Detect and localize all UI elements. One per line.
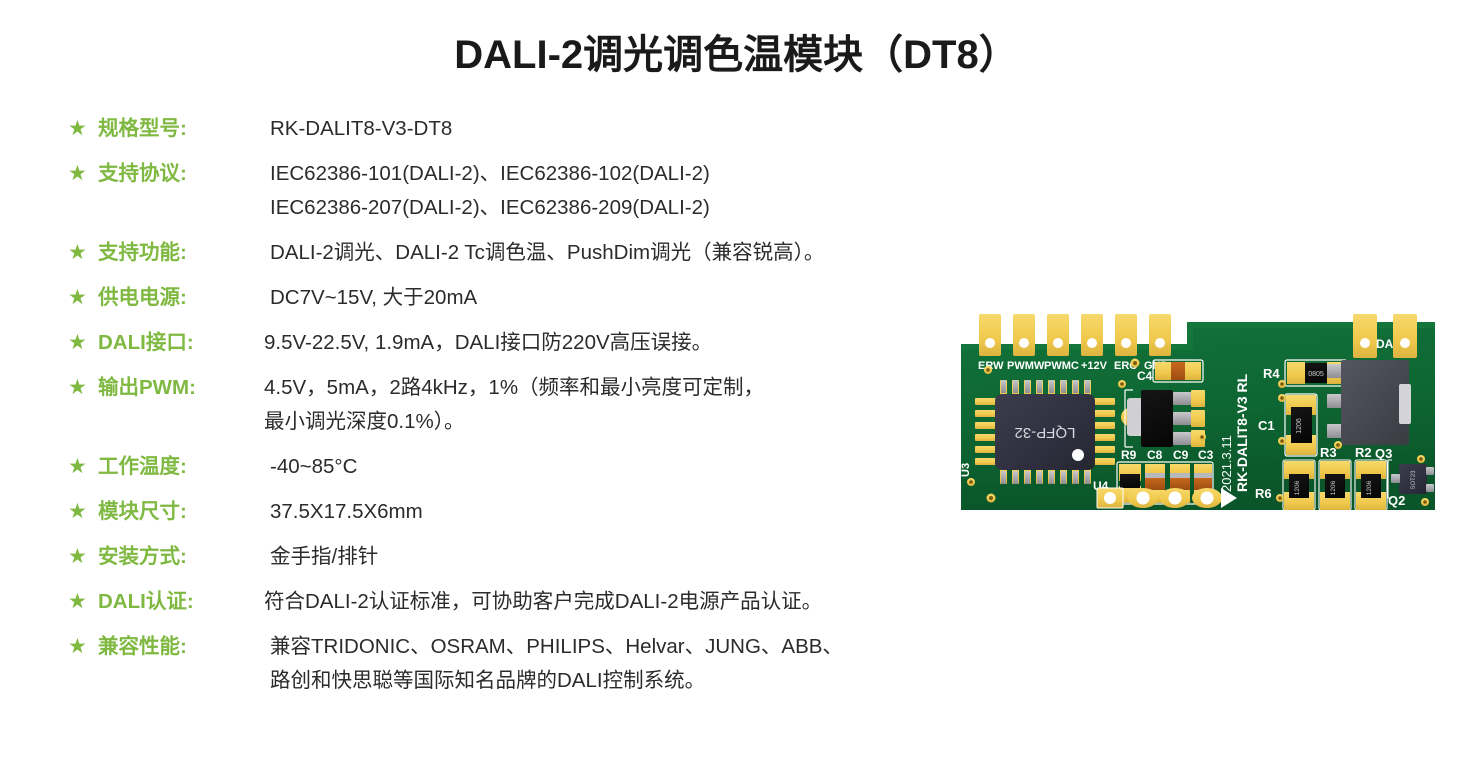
designator-c8: C8 (1147, 448, 1163, 462)
spec-label: DALI认证: (98, 585, 264, 619)
spec-label: 规格型号: (98, 112, 270, 146)
star-icon: ★ (68, 112, 98, 146)
part-code: 1206 (1366, 480, 1373, 495)
designator-q3: Q3 (1375, 446, 1392, 461)
spec-row: ★ 支持功能: DALI-2调光、DALI-2 Tc调色温、PushDim调光（… (68, 236, 968, 270)
part-code: 0805 (1308, 371, 1324, 378)
part-code: 1206 (1294, 480, 1301, 495)
spec-value: IEC62386-101(DALI-2)、IEC62386-102(DALI-2… (270, 157, 710, 191)
silkscreen-board-id: RK-DALIT8-V3 RL (1234, 373, 1250, 492)
spec-label: 模块尺寸: (98, 495, 270, 529)
designator-c4: C4 (1137, 369, 1153, 383)
designator-c3: C3 (1198, 448, 1214, 462)
part-code: SOT23 (1411, 470, 1417, 490)
spec-label: 供电电源: (98, 281, 270, 315)
designator-u3: U3 (960, 463, 972, 477)
spec-row: ★ 兼容性能: 兼容TRIDONIC、OSRAM、PHILIPS、Helvar、… (68, 630, 968, 664)
spec-value-continued: IEC62386-207(DALI-2)、IEC62386-209(DALI-2… (270, 191, 968, 225)
star-icon: ★ (68, 630, 98, 664)
spec-row: ★ DALI接口: 9.5V-22.5V, 1.9mA，DALI接口防220V高… (68, 326, 968, 360)
spec-value: DC7V~15V, 大于20mA (270, 281, 477, 315)
designator-r3: R3 (1320, 445, 1337, 460)
designator-r2: R2 (1355, 445, 1372, 460)
specification-list: ★ 规格型号: RK-DALIT8-V3-DT8 ★ 支持协议: IEC6238… (68, 112, 968, 698)
star-icon: ★ (68, 540, 98, 574)
star-icon: ★ (68, 236, 98, 270)
spec-row: ★ 供电电源: DC7V~15V, 大于20mA (68, 281, 968, 315)
part-code: 1206 (1330, 480, 1337, 495)
silkscreen-date: 2021.3.11 (1219, 435, 1234, 492)
spec-row: ★ DALI认证: 符合DALI-2认证标准，可协助客户完成DALI-2电源产品… (68, 585, 968, 619)
spec-value-continued: 路创和快思聪等国际知名品牌的DALI控制系统。 (270, 664, 968, 698)
spec-row: ★ 安装方式: 金手指/排针 (68, 540, 968, 574)
part-code: 1206 (1296, 418, 1303, 434)
spec-value: 4.5V，5mA，2路4kHz，1%（频率和最小亮度可定制， (264, 371, 764, 405)
spec-label: 工作温度: (98, 450, 270, 484)
da-label: DA (1376, 337, 1394, 351)
designator-r4: R4 (1263, 366, 1280, 381)
spec-row: ★ 支持协议: IEC62386-101(DALI-2)、IEC62386-10… (68, 157, 968, 191)
spec-label: 安装方式: (98, 540, 270, 574)
star-icon: ★ (68, 326, 98, 360)
spec-label: 兼容性能: (98, 630, 270, 664)
spec-value: 兼容TRIDONIC、OSRAM、PHILIPS、Helvar、JUNG、ABB… (270, 630, 843, 664)
spec-value: RK-DALIT8-V3-DT8 (270, 112, 452, 146)
designator-c1: C1 (1258, 418, 1275, 433)
pcb-product-photo: ERW PWMW PWMC +12V ERC GND DA (955, 302, 1435, 547)
spec-row: ★ 输出PWM: 4.5V，5mA，2路4kHz，1%（频率和最小亮度可定制， (68, 371, 968, 405)
spec-label: 支持协议: (98, 157, 270, 191)
star-icon: ★ (68, 281, 98, 315)
star-icon: ★ (68, 371, 98, 405)
star-icon: ★ (68, 450, 98, 484)
spec-row: ★ 模块尺寸: 37.5X17.5X6mm (68, 495, 968, 529)
spec-row: ★ 规格型号: RK-DALIT8-V3-DT8 (68, 112, 968, 146)
pin-label: PWMC (1044, 360, 1079, 372)
chip-marking: LQFP-32 (1015, 424, 1076, 441)
spec-label: DALI接口: (98, 326, 264, 360)
spec-value: 9.5V-22.5V, 1.9mA，DALI接口防220V高压误接。 (264, 326, 712, 360)
pin-label: +12V (1081, 360, 1108, 372)
spec-value: 符合DALI-2认证标准，可协助客户完成DALI-2电源产品认证。 (264, 585, 822, 619)
star-icon: ★ (68, 495, 98, 529)
spec-value: 37.5X17.5X6mm (270, 495, 423, 529)
spec-row: ★ 工作温度: -40~85°C (68, 450, 968, 484)
designator-r9: R9 (1121, 448, 1137, 462)
spec-value: DALI-2调光、DALI-2 Tc调色温、PushDim调光（兼容锐高）。 (270, 236, 824, 270)
page-title: DALI-2调光调色温模块（DT8） (0, 22, 1473, 80)
designator-c9: C9 (1173, 448, 1189, 462)
spec-value-continued: 最小调光深度0.1%）。 (264, 405, 968, 439)
bottom-test-pads (1097, 488, 1237, 508)
spec-label: 输出PWM: (98, 371, 264, 405)
designator-q2: Q2 (1388, 493, 1405, 508)
designator-r6: R6 (1255, 486, 1272, 501)
star-icon: ★ (68, 157, 98, 191)
spec-value: -40~85°C (270, 450, 357, 484)
spec-label: 支持功能: (98, 236, 270, 270)
pin-label: PWMW (1007, 360, 1045, 372)
spec-value: 金手指/排针 (270, 540, 378, 574)
product-spec-page: DALI-2调光调色温模块（DT8） ★ 规格型号: RK-DALIT8-V3-… (0, 0, 1473, 783)
star-icon: ★ (68, 585, 98, 619)
